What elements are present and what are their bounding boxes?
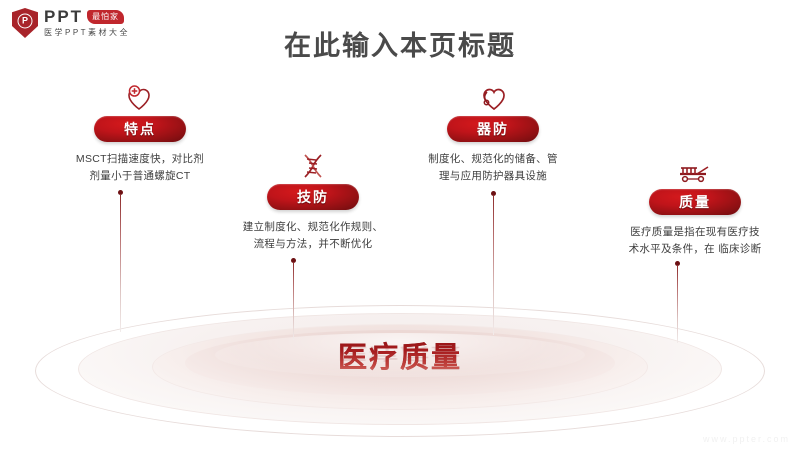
item-description-1: MSCT扫描速度快，对比剂剂量小于普通螺旋CT (45, 151, 235, 186)
badge-1[interactable]: 特点 (94, 116, 186, 142)
item-block-4[interactable]: 质量 医疗质量是指在现有医疗技术水平及条件，在 临床诊断 (600, 155, 790, 259)
connector-line-1 (120, 194, 121, 332)
watermark: www.ppter.com (703, 434, 790, 444)
badge-label-1: 特点 (124, 119, 156, 139)
dna-helix-icon (218, 150, 408, 180)
badge-3[interactable]: 器防 (447, 116, 539, 142)
item-block-2[interactable]: 技防 建立制度化、规范化作规则、流程与方法，并不断优化 (218, 150, 408, 254)
hospital-bed-icon (600, 155, 790, 185)
badge-label-3: 器防 (477, 119, 509, 139)
item-description-3: 制度化、规范化的储备、管理与应用防护器具设施 (398, 151, 588, 186)
item-block-3[interactable]: 器防 制度化、规范化的储备、管理与应用防护器具设施 (398, 82, 588, 186)
badge-2[interactable]: 技防 (267, 184, 359, 210)
slide-canvas: P PPT 最怕家 医学PPT素材大全 在此输入本页标题 医疗质量 医疗质量 医… (0, 0, 800, 450)
heart-plus-icon (45, 82, 235, 112)
center-label: 医疗质量 (0, 334, 800, 376)
badge-4[interactable]: 质量 (649, 189, 741, 215)
connector-line-3 (493, 195, 494, 335)
stethoscope-heart-icon (398, 82, 588, 112)
item-description-4: 医疗质量是指在现有医疗技术水平及条件，在 临床诊断 (600, 224, 790, 259)
item-description-2: 建立制度化、规范化作规则、流程与方法，并不断优化 (218, 219, 408, 254)
badge-label-2: 技防 (297, 187, 329, 207)
connector-line-2 (293, 262, 294, 340)
badge-label-4: 质量 (679, 192, 711, 212)
item-block-1[interactable]: 特点 MSCT扫描速度快，对比剂剂量小于普通螺旋CT (45, 82, 235, 186)
connector-line-4 (677, 265, 678, 343)
